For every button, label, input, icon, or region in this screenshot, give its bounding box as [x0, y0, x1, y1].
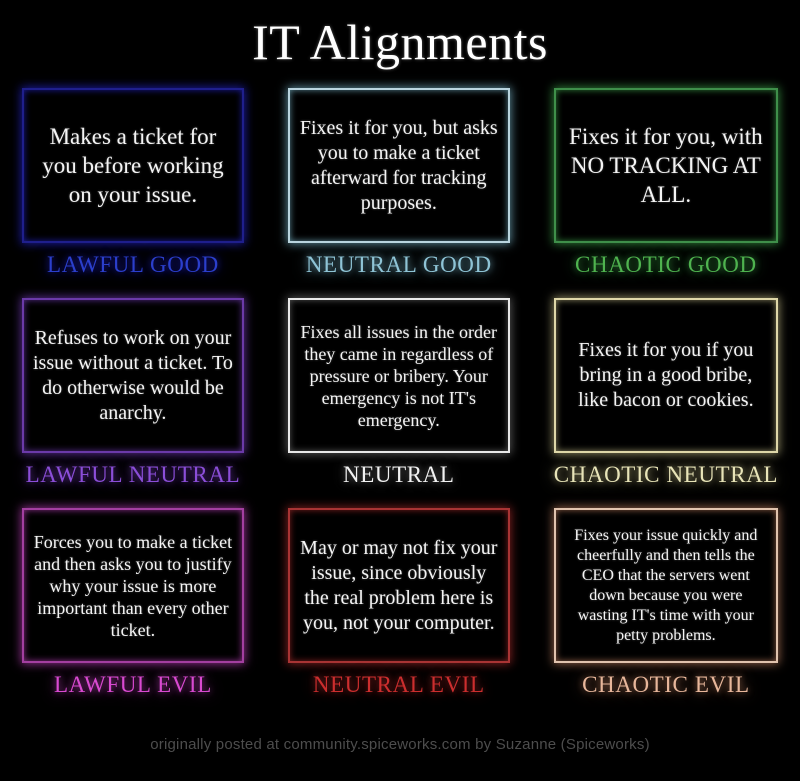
alignment-panel: May or may not fix your issue, since obv… [288, 508, 510, 663]
alignment-panel: Forces you to make a ticket and then ask… [22, 508, 244, 663]
alignment-panel: Fixes all issues in the order they came … [288, 298, 510, 453]
alignment-cell-lawful-evil: Forces you to make a ticket and then ask… [0, 508, 266, 718]
alignment-panel: Fixes it for you, with NO TRACKING AT AL… [554, 88, 778, 243]
page-title: IT Alignments [0, 12, 800, 72]
alignment-label: LAWFUL GOOD [47, 252, 219, 278]
alignment-panel: Makes a ticket for you before working on… [22, 88, 244, 243]
alignment-cell-chaotic-evil: Fixes your issue quickly and cheerfully … [532, 508, 800, 718]
alignment-label: NEUTRAL GOOD [306, 252, 492, 278]
alignment-label: CHAOTIC EVIL [582, 672, 750, 698]
alignment-description: Fixes it for you, but asks you to make a… [298, 116, 500, 216]
alignment-chart-canvas: IT Alignments Makes a ticket for you bef… [0, 0, 800, 781]
alignment-label: NEUTRAL [343, 462, 455, 488]
attribution-credit: originally posted at community.spicework… [0, 735, 800, 755]
alignment-cell-lawful-good: Makes a ticket for you before working on… [0, 88, 266, 298]
alignment-description: Refuses to work on your issue without a … [32, 326, 234, 426]
alignment-panel: Refuses to work on your issue without a … [22, 298, 244, 453]
alignment-description: Fixes it for you if you bring in a good … [564, 338, 768, 413]
alignment-label: NEUTRAL EVIL [313, 672, 485, 698]
alignment-panel: Fixes your issue quickly and cheerfully … [554, 508, 778, 663]
alignment-cell-chaotic-good: Fixes it for you, with NO TRACKING AT AL… [532, 88, 800, 298]
alignment-label: LAWFUL NEUTRAL [26, 462, 241, 488]
alignment-cell-chaotic-neutral: Fixes it for you if you bring in a good … [532, 298, 800, 508]
alignment-cell-neutral-good: Fixes it for you, but asks you to make a… [266, 88, 532, 298]
alignment-panel: Fixes it for you if you bring in a good … [554, 298, 778, 453]
alignment-cell-lawful-neutral: Refuses to work on your issue without a … [0, 298, 266, 508]
alignment-label: LAWFUL EVIL [54, 672, 212, 698]
alignment-description: Fixes all issues in the order they came … [298, 321, 500, 431]
alignment-description: Forces you to make a ticket and then ask… [32, 531, 234, 641]
alignment-cell-neutral: Fixes all issues in the order they came … [266, 298, 532, 508]
alignment-description: May or may not fix your issue, since obv… [298, 536, 500, 636]
alignment-panel: Fixes it for you, but asks you to make a… [288, 88, 510, 243]
alignment-cell-neutral-evil: May or may not fix your issue, since obv… [266, 508, 532, 718]
alignment-description: Fixes your issue quickly and cheerfully … [564, 526, 768, 646]
alignment-description: Makes a ticket for you before working on… [32, 122, 234, 209]
alignment-label: CHAOTIC GOOD [575, 252, 757, 278]
alignment-grid: Makes a ticket for you before working on… [0, 88, 800, 718]
alignment-description: Fixes it for you, with NO TRACKING AT AL… [564, 122, 768, 209]
alignment-label: CHAOTIC NEUTRAL [554, 462, 778, 488]
